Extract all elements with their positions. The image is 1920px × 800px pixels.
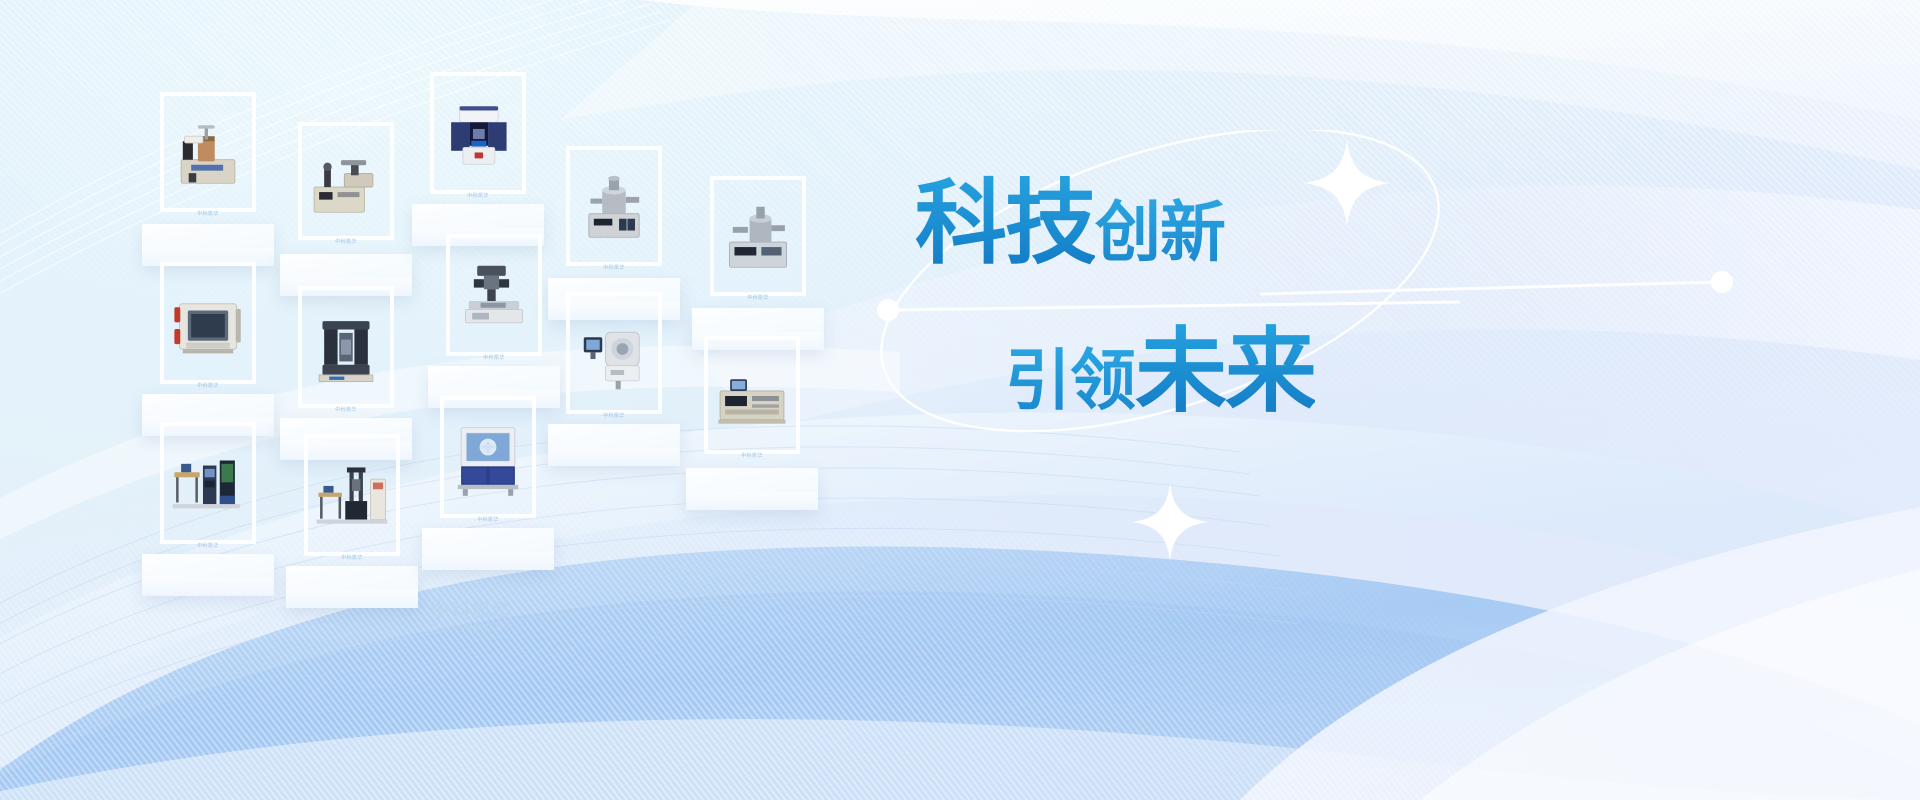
product-image bbox=[572, 158, 656, 256]
product-image bbox=[572, 304, 656, 404]
headline-line-1: 科技创新 bbox=[915, 178, 1225, 270]
pedestal-top-face bbox=[422, 528, 554, 552]
pedestal-top-face bbox=[412, 204, 544, 228]
watermark-en: ZHONGKEKAIHUA bbox=[430, 623, 522, 632]
product-card[interactable]: 中科凯华 bbox=[692, 172, 824, 350]
headline-line1-main: 科技 bbox=[915, 170, 1095, 277]
headline-line2-main: 未来 bbox=[1135, 318, 1315, 425]
product-card[interactable]: 中科凯华 bbox=[142, 258, 274, 436]
product-card[interactable]: 中科凯华 bbox=[548, 288, 680, 466]
product-image bbox=[304, 134, 388, 230]
product-caption: 中科凯华 bbox=[548, 412, 680, 419]
product-image bbox=[716, 188, 800, 286]
product-caption: 中科凯华 bbox=[286, 554, 418, 561]
headline-line1-sub: 创新 bbox=[1095, 194, 1225, 271]
product-card[interactable]: 中科凯华 bbox=[280, 118, 412, 296]
product-pedestal bbox=[422, 528, 554, 570]
pedestal-top-face bbox=[142, 224, 274, 248]
product-caption: 中科凯华 bbox=[422, 516, 554, 523]
pedestal-top-face bbox=[142, 394, 274, 418]
product-caption: 中科凯华 bbox=[548, 264, 680, 271]
headline-line2-sub: 引领 bbox=[1005, 342, 1135, 419]
pedestal-top-face bbox=[548, 424, 680, 448]
product-card[interactable]: 中科凯华 bbox=[412, 68, 544, 246]
pedestal-top-face bbox=[280, 254, 412, 278]
product-image bbox=[446, 408, 530, 508]
pedestal-top-face bbox=[286, 566, 418, 590]
product-pedestal bbox=[548, 424, 680, 466]
product-image bbox=[166, 274, 250, 374]
pedestal-top-face bbox=[692, 308, 824, 332]
product-card[interactable]: 中科凯华 bbox=[142, 88, 274, 266]
headline-block: 科技创新 引领未来 bbox=[905, 178, 1425, 418]
product-card[interactable]: 中科凯华 bbox=[286, 430, 418, 608]
product-image bbox=[310, 446, 394, 546]
product-pedestal bbox=[286, 566, 418, 608]
hero-banner: 中科凯华 中科凯华 中科凯华 bbox=[0, 0, 1920, 800]
product-caption: 中科凯华 bbox=[142, 542, 274, 549]
product-image bbox=[710, 348, 794, 444]
sparkle-icon bbox=[1130, 482, 1210, 562]
product-card[interactable]: 中科凯华 bbox=[686, 332, 818, 510]
product-card[interactable]: 中科凯华 bbox=[428, 230, 560, 408]
product-caption: 中科凯华 bbox=[142, 382, 274, 389]
product-caption: 中科凯华 bbox=[692, 294, 824, 301]
product-image bbox=[452, 246, 536, 346]
product-card[interactable]: 中科凯华 bbox=[142, 418, 274, 596]
pedestal-top-face bbox=[428, 366, 560, 390]
product-caption: 中科凯华 bbox=[428, 354, 560, 361]
product-image bbox=[304, 298, 388, 398]
product-caption: 中科凯华 bbox=[280, 406, 412, 413]
watermark-cn: 中科凯华 bbox=[430, 596, 522, 623]
brand-watermark: 中科凯华 ZHONGKEKAIHUA bbox=[430, 596, 522, 632]
product-caption: 中科凯华 bbox=[412, 192, 544, 199]
product-caption: 中科凯华 bbox=[686, 452, 818, 459]
product-image bbox=[436, 84, 520, 184]
product-pedestal bbox=[142, 554, 274, 596]
product-image bbox=[166, 434, 250, 534]
pedestal-top-face bbox=[142, 554, 274, 578]
product-pedestal bbox=[686, 468, 818, 510]
product-caption: 中科凯华 bbox=[280, 238, 412, 245]
headline-line-2: 引领未来 bbox=[1005, 326, 1315, 418]
pedestal-top-face bbox=[686, 468, 818, 492]
product-image bbox=[166, 104, 250, 202]
product-card[interactable]: 中科凯华 bbox=[422, 392, 554, 570]
product-caption: 中科凯华 bbox=[142, 210, 274, 217]
